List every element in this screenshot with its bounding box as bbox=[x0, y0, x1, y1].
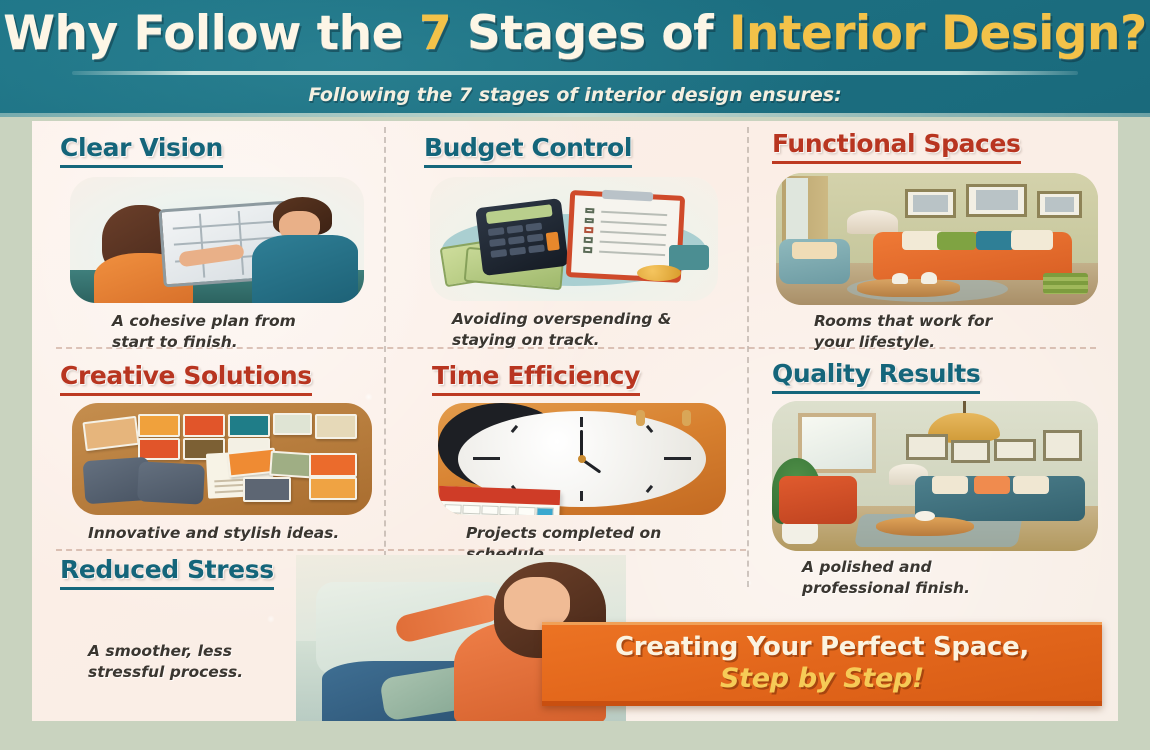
illustration-clock-and-calendar bbox=[438, 403, 726, 515]
divider-vertical-3 bbox=[384, 357, 386, 557]
card-title-creative-solutions: Creative Solutions bbox=[60, 361, 312, 396]
card-title-quality-results: Quality Results bbox=[772, 359, 980, 394]
card-reduced-stress: Reduced Stress A smoother, less stressfu… bbox=[60, 555, 560, 590]
card-creative-solutions: Creative Solutions bbox=[60, 361, 380, 396]
wall-clock-icon bbox=[438, 403, 565, 488]
card-caption-budget-control: Avoiding overspending & staying on track… bbox=[452, 309, 702, 351]
card-caption-reduced-stress: A smoother, less stressful process. bbox=[88, 641, 258, 683]
card-clear-vision: Clear Vision A cohesive plan from start … bbox=[60, 133, 370, 168]
title-part-1: Why Follow the bbox=[3, 6, 419, 61]
page-title: Why Follow the 7 Stages of Interior Desi… bbox=[0, 8, 1150, 61]
footer-banner: Creating Your Perfect Space, Step by Ste… bbox=[542, 622, 1102, 706]
card-caption-quality-results: A polished and professional finish. bbox=[802, 557, 1042, 599]
divider-vertical-1 bbox=[384, 127, 386, 352]
content-sheet: Clear Vision A cohesive plan from start … bbox=[32, 121, 1118, 721]
divider-vertical-2 bbox=[747, 127, 749, 352]
card-caption-functional-spaces: Rooms that work for your lifestyle. bbox=[814, 311, 1034, 353]
illustration-calculator-money-clipboard bbox=[430, 177, 718, 301]
card-time-efficiency: Time Efficiency bbox=[432, 361, 732, 396]
header-band: Why Follow the 7 Stages of Interior Desi… bbox=[0, 0, 1150, 117]
card-caption-clear-vision: A cohesive plan from start to finish. bbox=[112, 311, 342, 353]
banner-line-2: Step by Step! bbox=[720, 663, 924, 694]
title-part-2: 7 bbox=[419, 6, 451, 61]
illustration-living-room-orange-sofa bbox=[776, 173, 1098, 305]
card-budget-control: Budget Control bbox=[424, 133, 724, 168]
card-quality-results: Quality Results bbox=[772, 359, 1102, 394]
card-title-time-efficiency: Time Efficiency bbox=[432, 361, 640, 396]
card-functional-spaces: Functional Spaces bbox=[772, 129, 1102, 164]
page-subtitle: Following the 7 stages of interior desig… bbox=[0, 84, 1150, 106]
title-part-4: Interior Design? bbox=[729, 6, 1147, 61]
illustration-living-room-teal-sofa bbox=[772, 401, 1098, 551]
card-title-budget-control: Budget Control bbox=[424, 133, 632, 168]
card-title-clear-vision: Clear Vision bbox=[60, 133, 223, 168]
card-title-functional-spaces: Functional Spaces bbox=[772, 129, 1021, 164]
card-title-reduced-stress: Reduced Stress bbox=[60, 555, 274, 590]
banner-line-1: Creating Your Perfect Space, bbox=[615, 632, 1029, 662]
illustration-couple-reviewing-floor-plan bbox=[70, 177, 364, 303]
divider-vertical-4 bbox=[747, 357, 749, 587]
card-caption-creative-solutions: Innovative and stylish ideas. bbox=[88, 523, 368, 544]
illustration-mood-board-swatches bbox=[72, 403, 372, 515]
title-underline-rule bbox=[72, 71, 1078, 75]
infographic-poster: Why Follow the 7 Stages of Interior Desi… bbox=[0, 0, 1150, 750]
title-part-3: Stages of bbox=[451, 6, 729, 61]
